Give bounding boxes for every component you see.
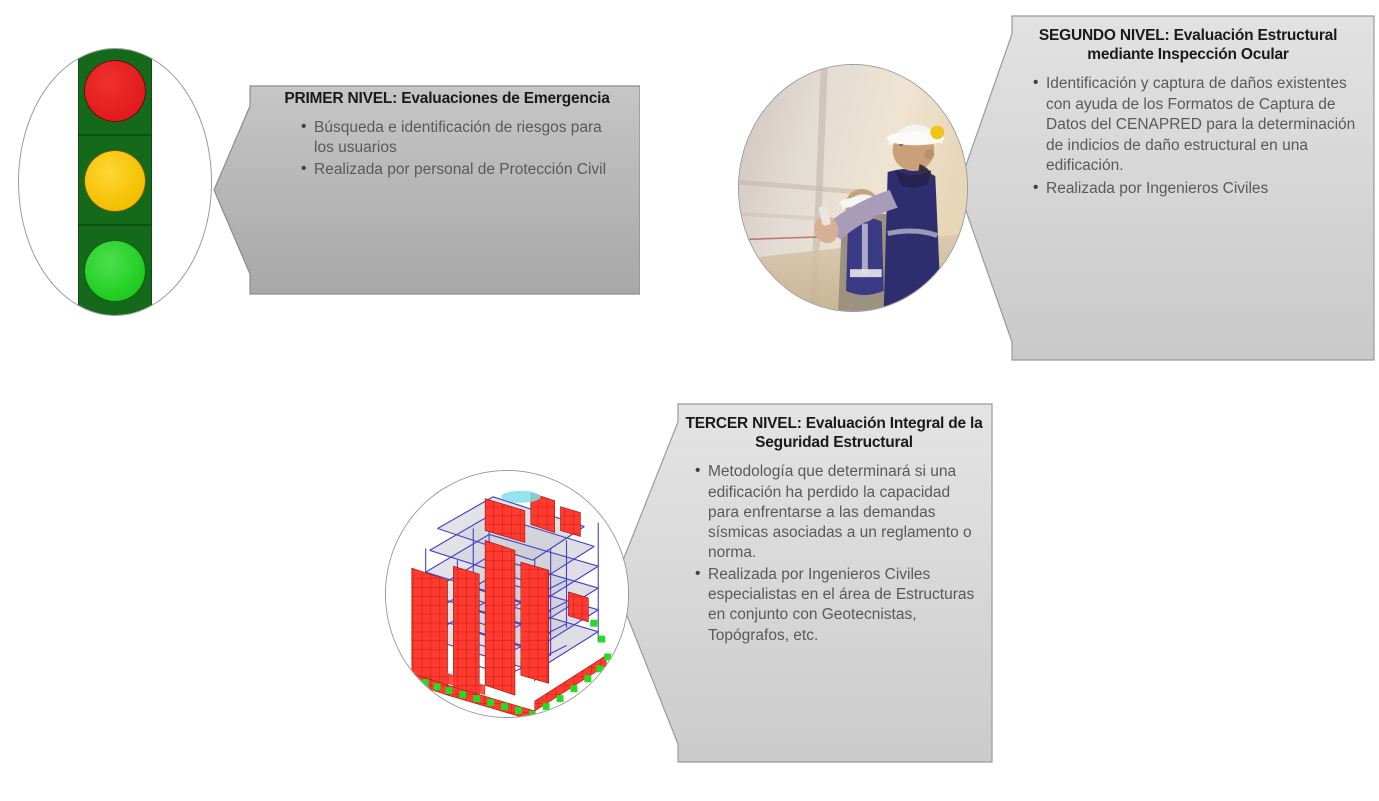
- inspection-photo-illustration: [739, 65, 967, 311]
- callout-segundo-nivel[interactable]: SEGUNDO NIVEL: Evaluación Estructural me…: [956, 14, 1376, 362]
- traffic-light-housing: [78, 48, 152, 316]
- list-item: Realizada por Ingenieros Civiles especia…: [694, 565, 984, 646]
- callout-bullets-primer-nivel: Búsqueda e identificación de riesgos par…: [272, 118, 622, 182]
- traffic-light-red-lamp: [84, 60, 146, 122]
- callout-tercer-nivel[interactable]: TERCER NIVEL: Evaluación Integral de la …: [612, 402, 994, 764]
- callout-text-tercer-nivel: TERCER NIVEL: Evaluación Integral de la …: [684, 402, 984, 764]
- structural-model-icon: [385, 470, 629, 718]
- list-item: Realizada por Ingenieros Civiles: [1032, 179, 1358, 199]
- traffic-light-divider: [79, 134, 151, 136]
- callout-bullets-tercer-nivel: Metodología que determinará si una edifi…: [684, 462, 984, 647]
- traffic-light-divider: [79, 224, 151, 226]
- callout-title-segundo-nivel: SEGUNDO NIVEL: Evaluación Estructural me…: [1018, 26, 1358, 64]
- inspection-photo-icon: [738, 64, 968, 312]
- callout-text-segundo-nivel: SEGUNDO NIVEL: Evaluación Estructural me…: [1018, 14, 1358, 362]
- fem-model-illustration: [386, 471, 628, 717]
- callout-bullets-segundo-nivel: Identificación y captura de daños existe…: [1018, 74, 1358, 201]
- callout-primer-nivel[interactable]: PRIMER NIVEL: Evaluaciones de Emergencia…: [212, 78, 640, 302]
- traffic-light-green-lamp: [84, 240, 146, 302]
- list-item: Búsqueda e identificación de riesgos par…: [300, 118, 622, 158]
- callout-text-primer-nivel: PRIMER NIVEL: Evaluaciones de Emergencia…: [272, 78, 622, 302]
- fem-roof-accent: [501, 491, 541, 503]
- traffic-light-icon: [18, 48, 212, 316]
- callout-title-primer-nivel: PRIMER NIVEL: Evaluaciones de Emergencia: [272, 90, 622, 109]
- callout-title-tercer-nivel: TERCER NIVEL: Evaluación Integral de la …: [684, 414, 984, 452]
- list-item: Metodología que determinará si una edifi…: [694, 462, 984, 563]
- diagram-canvas: PRIMER NIVEL: Evaluaciones de Emergencia…: [0, 0, 1379, 801]
- traffic-light-yellow-lamp: [84, 150, 146, 212]
- list-item: Realizada por personal de Protección Civ…: [300, 160, 622, 180]
- list-item: Identificación y captura de daños existe…: [1032, 74, 1358, 176]
